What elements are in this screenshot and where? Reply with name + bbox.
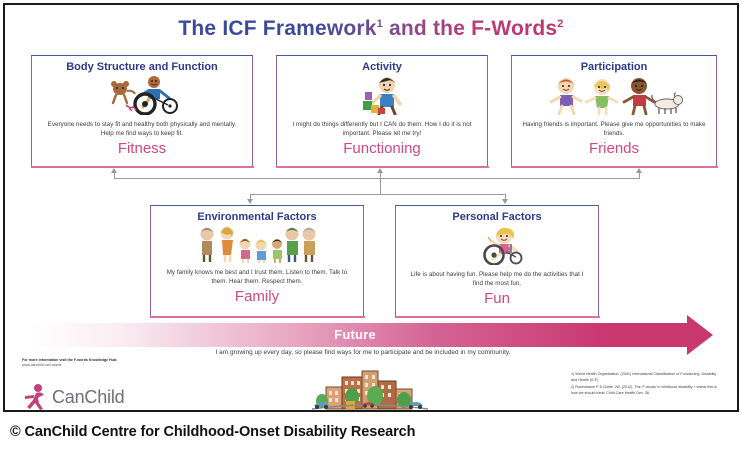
card-title: Personal Factors [452,211,541,223]
canchild-logo: CanChild [23,383,124,411]
connector-top-horizontal [114,178,640,179]
family-group-icon [193,225,321,268]
card-fword-label: Friends [589,141,639,157]
references-block: 1) World Health Organization. (2001) Int… [571,371,723,397]
screenshot-root: The ICF Framework1 and the F-Words2 Body… [0,0,742,449]
three-children-and-dog-icon [544,75,684,120]
future-description: I am growing up every day, so please fin… [5,349,721,356]
card-participation[interactable]: Participation [511,55,717,167]
card-description: My family knows me best and I trust them… [157,269,357,287]
card-activity[interactable]: Activity I might do things dif [276,55,488,167]
reference-2: 2) Rosenbaum P & Gorter JW. (2012). The … [571,384,723,396]
arrowhead-down-right [502,199,508,204]
card-fword-label: Family [235,289,279,305]
card-description: Everyone needs to stay fit and healthy b… [38,121,246,139]
future-label: Future [5,323,705,347]
card-description: I might do things differently but I CAN … [283,121,481,139]
icf-framework-poster: The ICF Framework1 and the F-Words2 Body… [3,3,739,412]
canchild-wordmark: CanChild [52,387,124,408]
card-title: Activity [362,61,402,73]
girl-in-wheelchair-icon [462,225,532,270]
card-fword-label: Fitness [118,141,166,157]
arrowhead-down-left [247,199,253,204]
card-title: Environmental Factors [197,211,316,223]
card-environmental-factors[interactable]: Environmental Factors [150,205,364,317]
connector-center-vertical [380,173,381,195]
connector-stub-left [114,173,115,179]
knowledge-hub-url[interactable]: www.canchild.ca/f-words [22,363,117,368]
card-title: Participation [581,61,648,73]
card-title: Body Structure and Function [66,61,218,73]
knowledge-hub-note: For more information visit the F-words K… [22,358,117,369]
connector-bottom-horizontal [250,194,506,195]
title-and-part: and the F-Words [383,17,557,40]
card-fword-label: Functioning [343,141,421,157]
arrowhead-up-left [111,168,117,173]
community-cityscape-icon [308,365,432,412]
arrowhead-up-right [636,168,642,173]
page-title: The ICF Framework1 and the F-Words2 [178,17,563,41]
connector-stub-right [639,173,640,179]
copyright-caption: © CanChild Centre for Childhood-Onset Di… [10,424,415,440]
card-description: Having friends is important. Please give… [518,121,710,139]
card-body-structure-and-function[interactable]: Body Structure and Function [31,55,253,167]
title-icf-part: The ICF Framework [178,17,376,40]
title-footnote-2: 2 [557,18,563,30]
poster-title-wrap: The ICF Framework1 and the F-Words2 [5,17,737,41]
card-description: Life is about having fun. Please help me… [402,271,592,289]
child-playing-with-blocks-icon [351,75,413,120]
canchild-runner-icon [23,383,49,411]
reference-1: 1) World Health Organization. (2001) Int… [571,371,723,383]
card-fword-label: Fun [484,291,510,307]
child-in-wheelchair-with-dog-icon [96,75,188,120]
card-personal-factors[interactable]: Personal Factors [395,205,599,317]
